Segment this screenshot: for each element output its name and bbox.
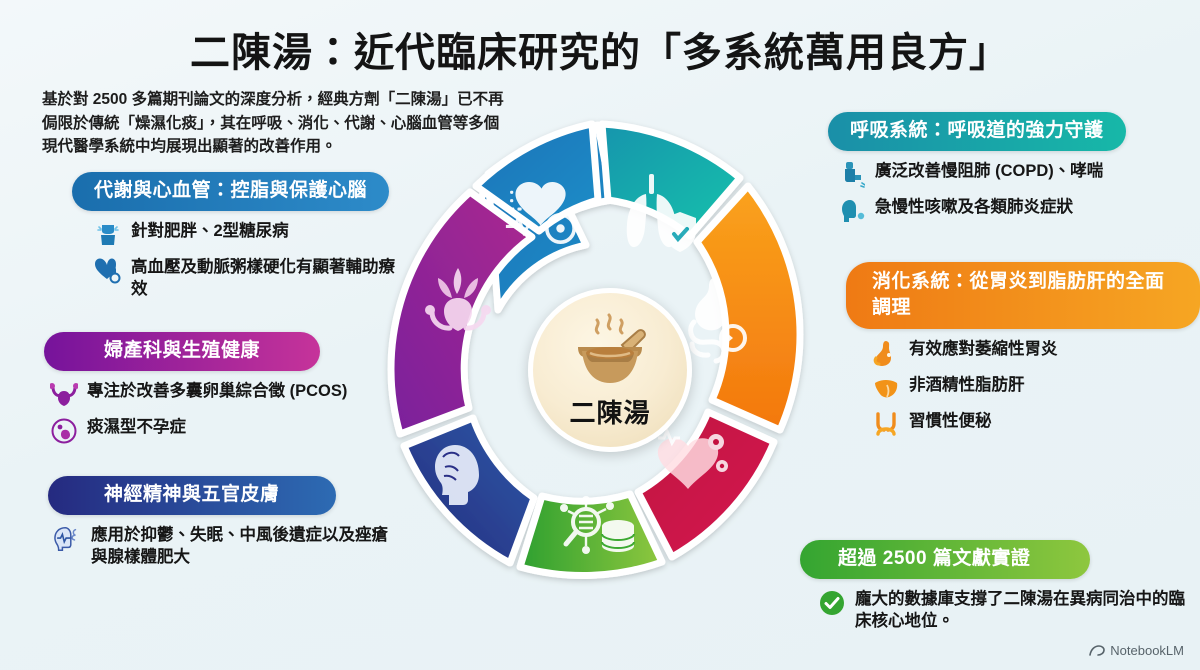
panel-evidence-bullets: 龐大的數據庫支撐了二陳湯在異病同治中的臨床核心地位。 — [800, 588, 1200, 634]
panel-respiratory-bullets: 廣泛改善慢阻肺 (COPD)、哮喘 急慢性咳嗽及各類肺炎症狀 — [828, 160, 1200, 225]
bullet-item: 習慣性便秘 — [872, 410, 1200, 439]
panel-evidence-heading: 超過 2500 篇文獻實證 — [800, 540, 1090, 579]
wheel-hub: 二陳湯 — [528, 288, 692, 452]
panel-metabolic: 代謝與心血管：控脂與保護心腦 針對肥胖、2型糖尿病 — [72, 172, 402, 308]
page-title: 二陳湯：近代臨床研究的「多系統萬用良方」 — [0, 20, 1200, 78]
notebooklm-logo-icon — [1089, 645, 1105, 657]
infographic-canvas: 二陳湯：近代臨床研究的「多系統萬用良方」 基於對 2500 多篇期刊論文的深度分… — [0, 0, 1200, 670]
bullet-item: 針對肥胖、2型糖尿病 — [94, 220, 402, 249]
cough-head-icon — [838, 197, 866, 225]
panel-gynecology-bullets: 專注於改善多囊卵巢綜合徵 (PCOS) 痰濕型不孕症 — [44, 380, 374, 445]
watermark-label: NotebookLM — [1110, 643, 1184, 658]
bullet-text: 有效應對萎縮性胃炎 — [909, 338, 1058, 361]
liver-icon — [872, 375, 900, 403]
waist-measure-icon — [94, 221, 122, 249]
panel-metabolic-bullets: 針對肥胖、2型糖尿病 高血壓及動脈粥樣硬化有顯著輔助療效 — [72, 220, 402, 302]
bullet-item: 痰濕型不孕症 — [50, 416, 374, 445]
panel-gynecology: 婦產科與生殖健康 專注於改善多囊卵巢綜合徵 (PCOS) — [44, 332, 374, 452]
panel-neuro-heading: 神經精神與五官皮膚 — [48, 476, 336, 515]
panel-gynecology-heading: 婦產科與生殖健康 — [44, 332, 320, 371]
bullet-item: 高血壓及動脈粥樣硬化有顯著輔助療效 — [94, 256, 402, 302]
intestine-icon — [872, 411, 900, 439]
bullet-text: 習慣性便秘 — [909, 410, 992, 433]
check-circle-icon — [818, 589, 846, 617]
panel-metabolic-heading: 代謝與心血管：控脂與保護心腦 — [72, 172, 389, 211]
panel-respiratory: 呼吸系統：呼吸道的強力守護 廣泛改善慢阻肺 (COPD)、哮喘 — [828, 112, 1200, 232]
bullet-item: 非酒精性脂肪肝 — [872, 374, 1200, 403]
bullet-item: 有效應對萎縮性胃炎 — [872, 338, 1200, 367]
hub-label: 二陳湯 — [569, 393, 650, 430]
bullet-text: 專注於改善多囊卵巢綜合徵 (PCOS) — [87, 380, 347, 403]
bullet-text: 應用於抑鬱、失眠、中風後遺症以及痤瘡與腺樣體肥大 — [91, 524, 393, 570]
heart-bp-icon — [94, 257, 122, 285]
inhaler-icon — [838, 161, 866, 189]
bullet-text: 廣泛改善慢阻肺 (COPD)、哮喘 — [875, 160, 1103, 183]
bullet-item: 廣泛改善慢阻肺 (COPD)、哮喘 — [838, 160, 1200, 189]
pregnancy-icon — [50, 417, 78, 445]
panel-neuro: 神經精神與五官皮膚 應用於抑鬱、失眠、中風後遺症以及痤瘡與腺樣體肥大 — [48, 476, 393, 576]
bullet-item: 龐大的數據庫支撐了二陳湯在異病同治中的臨床核心地位。 — [818, 588, 1200, 634]
stomach-icon — [872, 339, 900, 367]
bullet-text: 痰濕型不孕症 — [87, 416, 186, 439]
bullet-item: 專注於改善多囊卵巢綜合徵 (PCOS) — [50, 380, 374, 409]
panel-respiratory-heading: 呼吸系統：呼吸道的強力守護 — [828, 112, 1126, 151]
bullet-text: 龐大的數據庫支撐了二陳湯在異病同治中的臨床核心地位。 — [855, 588, 1200, 634]
bullet-text: 非酒精性脂肪肝 — [909, 374, 1025, 397]
panel-evidence: 超過 2500 篇文獻實證 龐大的數據庫支撐了二陳湯在異病同治中的臨床核心地位。 — [800, 540, 1200, 640]
watermark: NotebookLM — [1089, 643, 1184, 658]
brain-head-icon — [54, 525, 82, 553]
uterus-icon — [50, 381, 78, 409]
panel-digestive-bullets: 有效應對萎縮性胃炎 非酒精性脂肪肝 習慣性便秘 — [846, 338, 1200, 439]
bullet-item: 急慢性咳嗽及各類肺炎症狀 — [838, 196, 1200, 225]
panel-neuro-bullets: 應用於抑鬱、失眠、中風後遺症以及痤瘡與腺樣體肥大 — [48, 524, 393, 570]
panel-digestive: 消化系統：從胃炎到脂肪肝的全面調理 有效應對萎縮性胃炎 — [846, 262, 1200, 446]
bullet-text: 急慢性咳嗽及各類肺炎症狀 — [875, 196, 1073, 219]
bullet-text: 高血壓及動脈粥樣硬化有顯著輔助療效 — [131, 256, 402, 302]
herbal-soup-bowl-icon — [564, 311, 656, 389]
panel-digestive-heading: 消化系統：從胃炎到脂肪肝的全面調理 — [846, 262, 1200, 329]
bullet-item: 應用於抑鬱、失眠、中風後遺症以及痤瘡與腺樣體肥大 — [54, 524, 393, 570]
bullet-text: 針對肥胖、2型糖尿病 — [131, 220, 289, 243]
